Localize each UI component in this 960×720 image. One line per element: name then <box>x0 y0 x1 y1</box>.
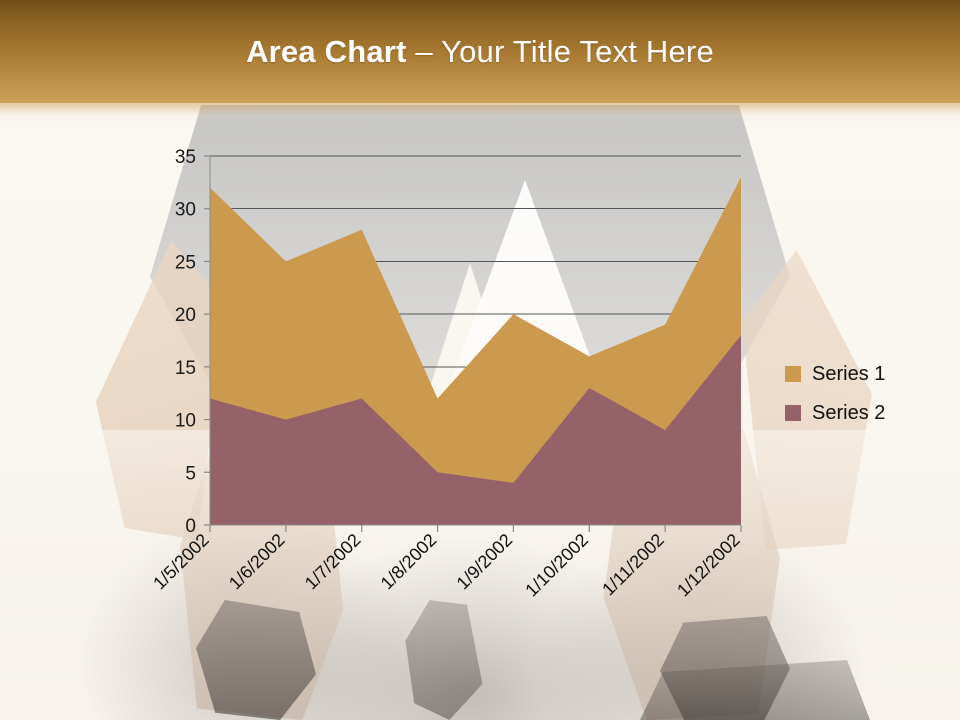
x-tick-label-2: 1/7/2002 <box>301 530 365 594</box>
x-tick-label-0: 1/5/2002 <box>149 530 213 594</box>
legend-swatch-2 <box>785 405 801 421</box>
y-tick-label-30: 30 <box>175 200 196 221</box>
x-axis-ticks <box>210 525 741 532</box>
chart-legend[interactable]: Series 1Series 2 <box>785 363 885 424</box>
y-tick-label-35: 35 <box>175 147 196 168</box>
x-tick-label-3: 1/8/2002 <box>377 530 441 594</box>
page-title: Area Chart – Your Title Text Here <box>246 34 714 70</box>
page-title-rest: – Your Title Text Here <box>407 34 714 69</box>
chart-areas <box>210 177 741 525</box>
legend-label-2[interactable]: Series 2 <box>812 402 885 424</box>
y-tick-label-5: 5 <box>185 463 196 484</box>
y-tick-label-10: 10 <box>175 411 196 432</box>
page-title-strong: Area Chart <box>246 34 407 69</box>
chart-container: 05101520253035 1/5/20021/6/20021/7/20021… <box>0 103 960 720</box>
area-chart[interactable]: 05101520253035 1/5/20021/6/20021/7/20021… <box>0 103 960 720</box>
y-axis-ticks <box>204 156 210 525</box>
x-tick-label-1: 1/6/2002 <box>225 530 289 594</box>
y-tick-label-20: 20 <box>175 305 196 326</box>
x-tick-label-6: 1/11/2002 <box>598 530 668 600</box>
y-axis-labels: 05101520253035 <box>175 147 196 537</box>
y-tick-label-25: 25 <box>175 252 196 273</box>
x-tick-label-5: 1/10/2002 <box>521 530 592 601</box>
legend-swatch-1 <box>785 366 801 382</box>
x-axis-labels: 1/5/20021/6/20021/7/20021/8/20021/9/2002… <box>149 530 744 601</box>
x-tick-label-4: 1/9/2002 <box>453 530 517 594</box>
legend-label-1[interactable]: Series 1 <box>812 363 885 385</box>
title-banner: Area Chart – Your Title Text Here <box>0 0 960 103</box>
y-tick-label-15: 15 <box>175 358 196 379</box>
x-tick-label-7: 1/12/2002 <box>673 530 744 601</box>
